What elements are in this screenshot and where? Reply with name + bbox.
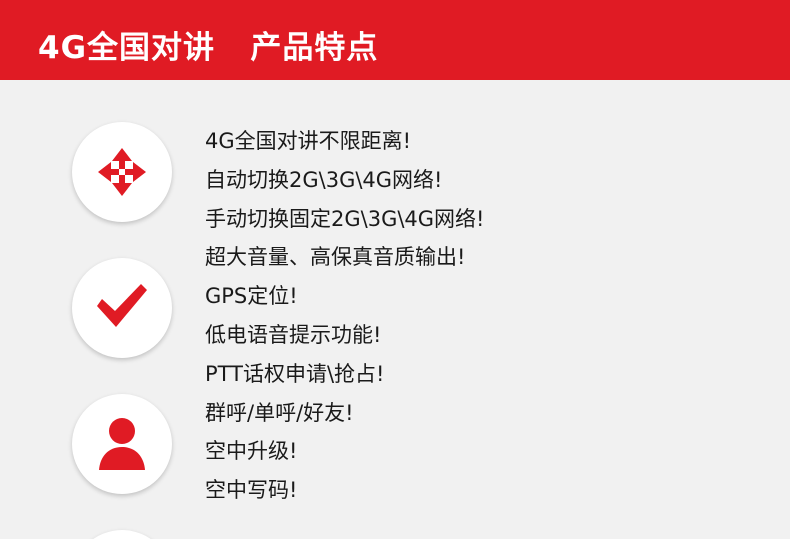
icon-badge-partial-circle <box>72 530 172 539</box>
product-features-page: 4G全国对讲 产品特点 <box>0 0 790 539</box>
feature-item: 空中升级! <box>205 432 765 471</box>
feature-item: 群呼/单呼/好友! <box>205 394 765 433</box>
feature-item: 手动切换固定2G\3G\4G网络! <box>205 200 765 239</box>
header-banner: 4G全国对讲 产品特点 <box>0 0 790 80</box>
feature-item: PTT话权申请\抢占! <box>205 355 765 394</box>
feature-list: 4G全国对讲不限距离! 自动切换2G\3G\4G网络! 手动切换固定2G\3G\… <box>205 122 765 510</box>
feature-item: 超大音量、高保真音质输出! <box>205 238 765 277</box>
content-area: 4G全国对讲不限距离! 自动切换2G\3G\4G网络! 手动切换固定2G\3G\… <box>0 80 790 539</box>
icon-column <box>72 122 182 539</box>
feature-item: 空中写码! <box>205 471 765 510</box>
feature-item: 自动切换2G\3G\4G网络! <box>205 161 765 200</box>
feature-item: GPS定位! <box>205 277 765 316</box>
icon-badge-check-mark <box>72 258 172 358</box>
feature-item: 4G全国对讲不限距离! <box>205 122 765 161</box>
feature-item: 低电语音提示功能! <box>205 316 765 355</box>
icon-badge-four-way-arrows <box>72 122 172 222</box>
page-title: 4G全国对讲 产品特点 <box>38 22 378 67</box>
icon-badge-person <box>72 394 172 494</box>
